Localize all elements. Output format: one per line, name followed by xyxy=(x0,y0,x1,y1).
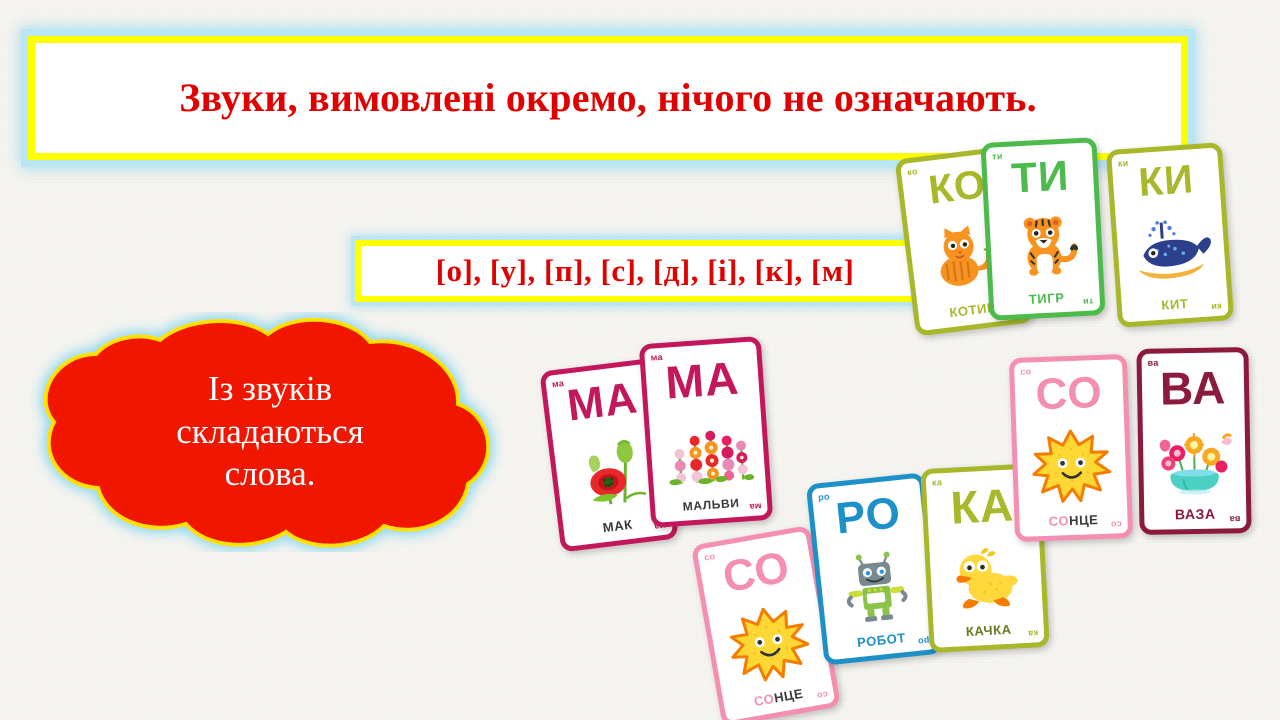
card-corner-label: со xyxy=(703,551,716,563)
card-word: ВАЗА xyxy=(1175,506,1216,523)
phoneme-list: [о], [у], [п], [с], [д], [і], [к], [м] xyxy=(436,253,855,289)
hollyhock-icon xyxy=(648,403,766,502)
flashcard-so-right[interactable]: со СО СОНЦЕ со xyxy=(1009,354,1133,542)
phoneme-banner: [о], [у], [п], [с], [д], [і], [к], [м] xyxy=(355,240,935,302)
page-title: Звуки, вимовлені окремо, нічого не означ… xyxy=(153,76,1063,121)
card-syllable: ВА xyxy=(1160,360,1227,415)
card-syllable: КА xyxy=(949,477,1015,534)
card-corner-label-br: со xyxy=(1110,519,1121,529)
duckling-icon xyxy=(929,530,1044,626)
card-corner-label-br: ти xyxy=(1083,296,1094,307)
card-corner-label-br: со xyxy=(816,689,829,701)
card-corner-label: ки xyxy=(1118,158,1129,169)
card-syllable: ТИ xyxy=(1010,152,1070,203)
card-corner-label-br: ма xyxy=(749,501,762,512)
flashcard-ma-malvy[interactable]: ма МА xyxy=(639,336,774,528)
sun-icon xyxy=(1016,417,1127,515)
cloud-text: Із звуків складаються слова. xyxy=(10,312,530,552)
cloud-callout: Із звуків складаються слова. xyxy=(10,312,530,552)
sun-icon xyxy=(707,588,832,700)
card-syllable: СО xyxy=(1035,368,1104,420)
card-corner-label: со xyxy=(1020,366,1031,376)
whale-icon xyxy=(1115,200,1227,300)
robot-icon xyxy=(817,536,934,639)
cloud-line-2: складаються xyxy=(176,411,363,454)
flashcard-va[interactable]: ва ВА xyxy=(1136,347,1251,535)
card-word: МАК xyxy=(602,517,634,536)
tiger-icon xyxy=(989,198,1100,293)
card-corner-label: ма xyxy=(650,352,663,363)
card-corner-label: ва xyxy=(1148,358,1159,368)
card-word: ТИГР xyxy=(1028,290,1064,307)
card-corner-label-br: ки xyxy=(1211,302,1222,313)
card-syllable: КО xyxy=(926,162,989,214)
card-syllable: МА xyxy=(565,373,641,431)
card-corner-label: ма xyxy=(551,378,564,389)
flashcard-ky[interactable]: ки КИ КИТ xyxy=(1106,142,1234,328)
card-corner-label: ти xyxy=(992,151,1003,162)
cloud-line-1: Із звуків xyxy=(208,368,332,411)
card-corner-label: ко xyxy=(907,166,919,177)
card-corner-label-br: ва xyxy=(1229,514,1240,524)
card-syllable: МА xyxy=(664,351,741,410)
card-word: МАЛЬВИ xyxy=(682,496,740,514)
card-corner-label: ро xyxy=(818,491,831,502)
card-corner-label-br: ка xyxy=(1028,628,1039,639)
card-syllable: РО xyxy=(834,488,904,545)
vase-icon xyxy=(1143,414,1247,507)
cloud-line-3: слова. xyxy=(225,453,316,496)
card-word: СОНЦЕ xyxy=(1048,512,1098,529)
card-word: КАЧКА xyxy=(966,622,1013,639)
card-syllable: КИ xyxy=(1137,157,1195,206)
card-word: КИТ xyxy=(1161,296,1189,313)
card-corner-label: ка xyxy=(932,477,943,488)
flashcard-ty[interactable]: ти ТИ xyxy=(980,137,1105,321)
